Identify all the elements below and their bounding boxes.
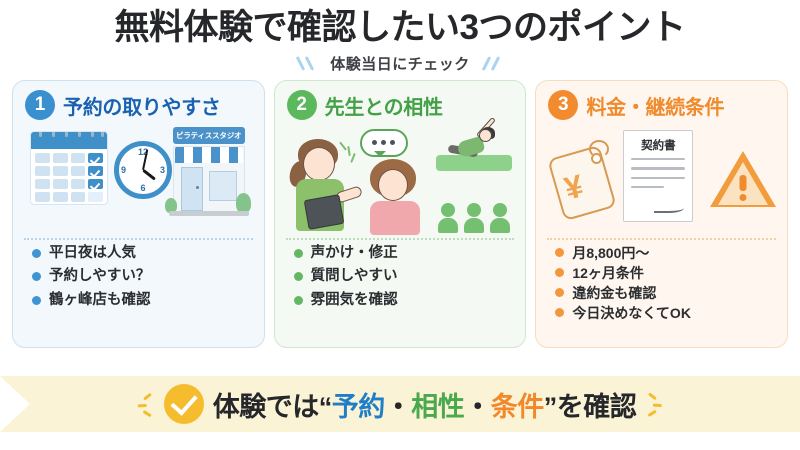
student-figure-icon: [362, 159, 436, 233]
separator-1: ・: [385, 392, 412, 422]
keyword-terms: 条件: [491, 392, 544, 422]
ribbon-lead: 体験では: [213, 392, 319, 422]
list-item: 月8,800円～: [555, 246, 778, 260]
keyword-reservation: 予約: [332, 392, 385, 422]
slash-right-icon: [479, 55, 505, 71]
card-header: 2 先生との相性: [284, 88, 517, 123]
ribbon-content: 体験では“予約・相性・条件”を確認: [133, 384, 668, 424]
card-reservation: 1 予約の取りやすさ: [12, 80, 265, 348]
card-bullet-list: 月8,800円～ 12ヶ月条件 違約金も確認 今日決めなくてOK: [545, 246, 778, 326]
bullet-dot-icon: [555, 268, 564, 277]
card-illustration: [284, 125, 517, 233]
list-item-label: 今日決めなくてOK: [572, 306, 691, 320]
studio-storefront-icon: ピラティススタジオ: [165, 127, 251, 219]
price-tag-icon: ¥: [555, 141, 617, 217]
warning-triangle-icon: [710, 151, 776, 209]
list-item-label: 質問しやすい: [311, 269, 398, 284]
card-instructor-fit: 2 先生との相性: [274, 80, 527, 348]
bullet-dot-icon: [555, 288, 564, 297]
contract-title-label: 契約書: [631, 137, 685, 153]
signature-icon: [654, 203, 684, 213]
card-title: 予約の取りやすさ: [63, 91, 221, 120]
card-header: 1 予約の取りやすさ: [22, 88, 255, 123]
keyword-compatibility: 相性: [411, 392, 464, 422]
card-illustration: ¥ 契約書: [545, 125, 778, 233]
bullet-dot-icon: [32, 272, 41, 281]
list-item: 質問しやすい: [294, 269, 517, 284]
cards-container: 1 予約の取りやすさ: [0, 74, 800, 348]
bullet-dot-icon: [32, 249, 41, 258]
awning-icon: [175, 147, 243, 163]
speech-bubble-icon: [360, 129, 408, 157]
card-number-badge: 2: [287, 90, 317, 120]
card-header: 3 料金・継続条件: [545, 88, 778, 123]
card-number-badge: 3: [548, 90, 578, 120]
list-item-label: 鶴ヶ峰店も確認: [49, 293, 151, 308]
ribbon-tail: を確認: [557, 392, 637, 422]
list-item: 声かけ・修正: [294, 246, 517, 261]
sparkle-right-icon: [645, 391, 667, 417]
bullet-dot-icon: [555, 248, 564, 257]
list-item-label: 月8,800円～: [572, 246, 649, 260]
bullet-dot-icon: [32, 296, 41, 305]
list-item-label: 予約しやすい？: [49, 269, 150, 284]
list-item: 鶴ヶ峰店も確認: [32, 293, 255, 308]
card-divider: [547, 238, 776, 240]
page-title: 無料体験で確認したい3つのポイント: [0, 0, 800, 47]
list-item-label: 平日夜は人気: [49, 246, 136, 261]
infographic-page: 無料体験で確認したい3つのポイント 体験当日にチェック 1 予約の取りやすさ: [0, 0, 800, 450]
list-item: 雰囲気を確認: [294, 293, 517, 308]
card-bullet-list: 声かけ・修正 質問しやすい 雰囲気を確認: [284, 246, 517, 317]
slash-left-icon: [295, 55, 321, 71]
sparkle-left-icon: [133, 391, 155, 417]
list-item: 平日夜は人気: [32, 246, 255, 261]
page-subtitle: 体験当日にチェック: [330, 53, 470, 74]
list-item: 今日決めなくてOK: [555, 306, 778, 320]
card-divider: [286, 238, 515, 240]
quote-open: “: [319, 392, 332, 422]
bullet-dot-icon: [294, 296, 303, 305]
card-bullet-list: 平日夜は人気 予約しやすい？ 鶴ヶ峰店も確認: [22, 246, 255, 317]
clock-6: 6: [140, 183, 145, 193]
subtitle-row: 体験当日にチェック: [0, 53, 800, 74]
list-item: 予約しやすい？: [32, 269, 255, 284]
card-title: 料金・継続条件: [586, 91, 724, 120]
clock-hour-hand: [142, 169, 155, 180]
list-item: 12ヶ月条件: [555, 266, 778, 280]
list-item-label: 雰囲気を確認: [311, 293, 398, 308]
door-icon: [181, 167, 203, 211]
bullet-dot-icon: [294, 272, 303, 281]
window-icon: [209, 171, 237, 201]
card-number-badge: 1: [25, 90, 55, 120]
contract-document-icon: 契約書: [623, 130, 693, 222]
card-price-terms: 3 料金・継続条件 ¥ 契約書: [535, 80, 788, 348]
check-circle-icon: [164, 384, 204, 424]
clock-icon: 12 3 6 9: [114, 141, 172, 199]
group-people-icon: [438, 203, 510, 233]
card-illustration: 12 3 6 9 ピラティススタジオ: [22, 125, 255, 233]
list-item-label: 12ヶ月条件: [572, 266, 644, 280]
clipboard-icon: [303, 194, 344, 230]
card-divider: [24, 238, 253, 240]
calendar-icon: [30, 131, 108, 205]
bush-icon: [236, 193, 251, 213]
ribbon-text: 体験では“予約・相性・条件”を確認: [213, 385, 637, 424]
list-item: 違約金も確認: [555, 286, 778, 300]
summary-ribbon: 体験では“予約・相性・条件”を確認: [0, 376, 800, 432]
bullet-dot-icon: [555, 308, 564, 317]
studio-sign-label: ピラティススタジオ: [173, 127, 245, 144]
separator-2: ・: [464, 392, 491, 422]
list-item-label: 声かけ・修正: [311, 246, 398, 261]
emphasis-lines-icon: [340, 141, 360, 165]
list-item-label: 違約金も確認: [572, 286, 656, 300]
clock-9: 9: [121, 165, 126, 175]
yoga-pose-icon: [448, 127, 500, 161]
card-title: 先生との相性: [325, 91, 443, 120]
quote-close: ”: [544, 392, 557, 422]
bullet-dot-icon: [294, 249, 303, 258]
